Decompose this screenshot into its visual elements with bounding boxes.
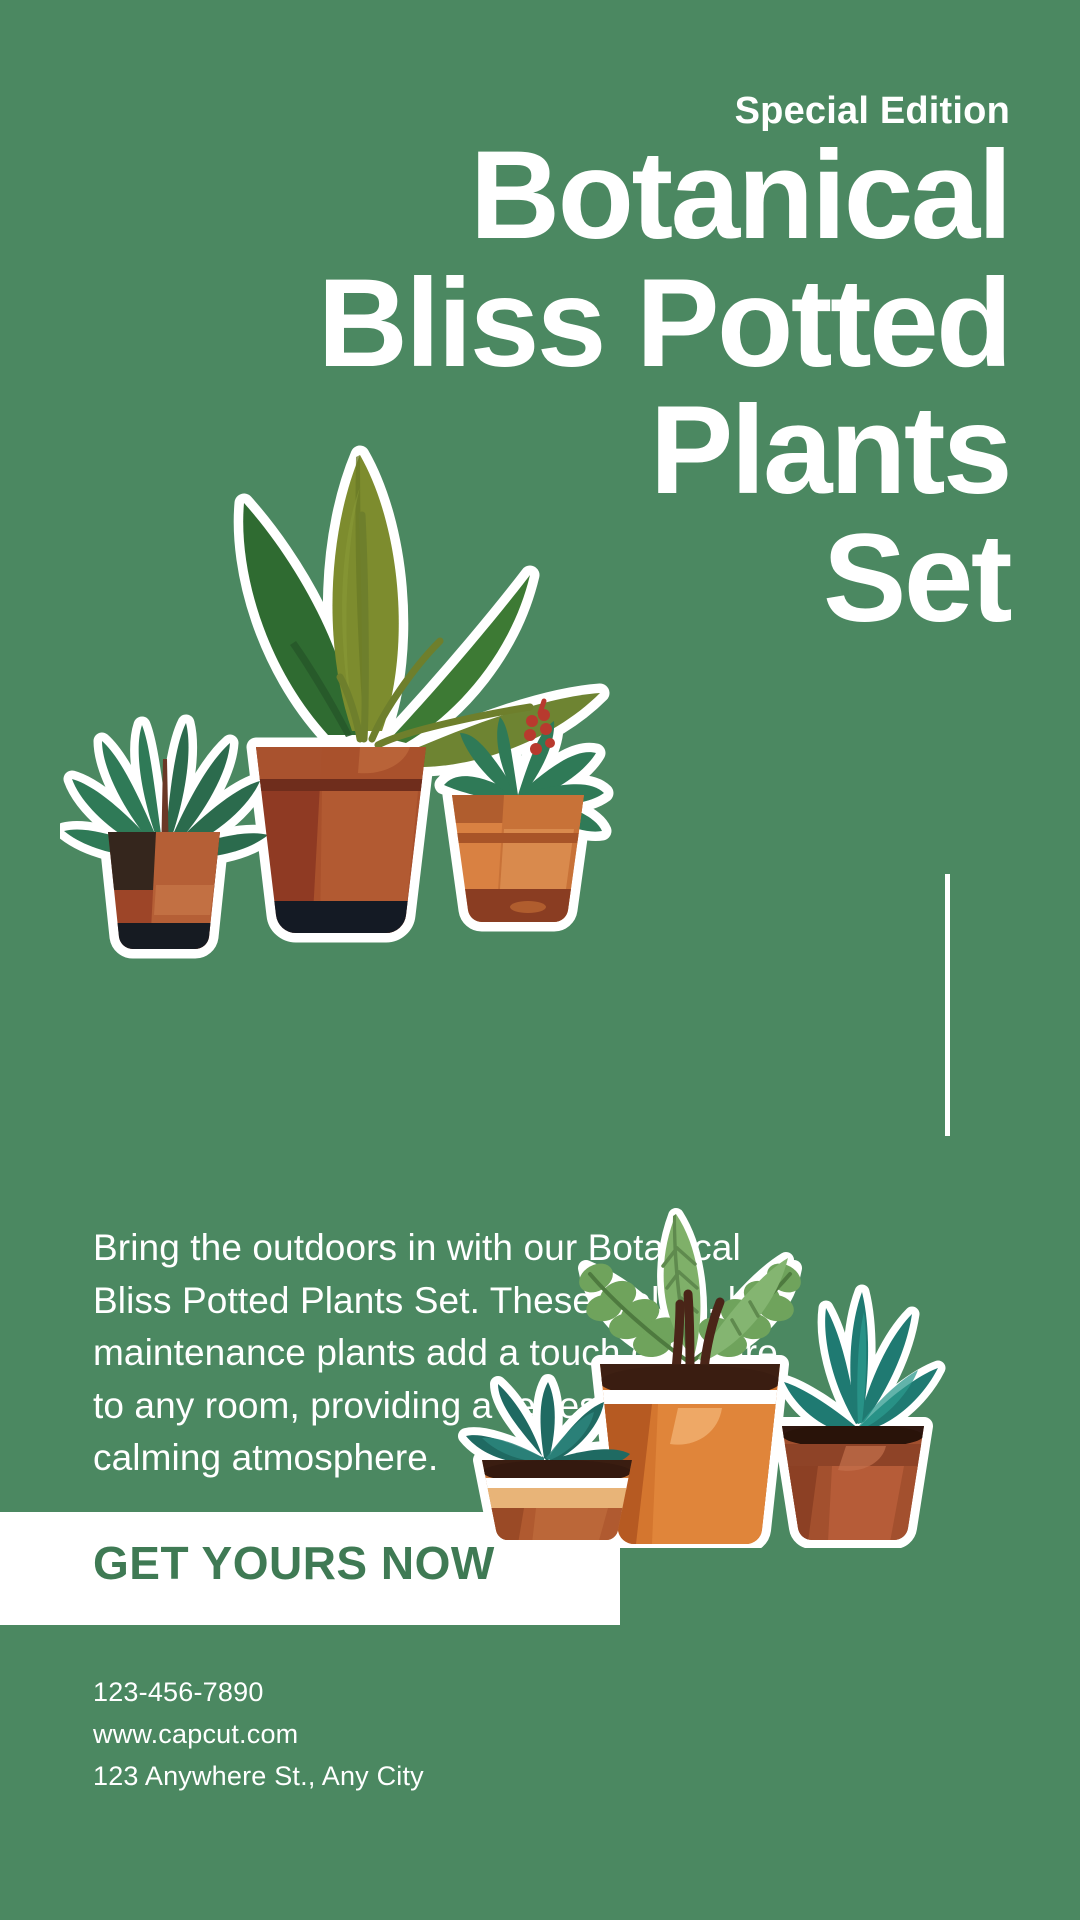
poster-canvas: Special Edition <box>0 0 1080 1920</box>
eyebrow-label: Special Edition <box>735 90 1010 133</box>
small-palm-plant <box>64 723 268 953</box>
get-yours-now-button[interactable]: GET YOURS NOW <box>93 1536 495 1590</box>
footer-phone[interactable]: 123-456-7890 <box>93 1672 424 1714</box>
headline-line-2: Bliss Potted <box>50 260 1010 388</box>
footer-address: 123 Anywhere St., Any City <box>93 1756 424 1798</box>
potted-plants-trio-illustration <box>60 395 660 965</box>
footer-website[interactable]: www.capcut.com <box>93 1714 424 1756</box>
headline-line-1: Botanical <box>50 132 1010 260</box>
vertical-divider <box>945 874 950 1136</box>
potted-plants-group-illustration <box>452 1168 1012 1548</box>
footer-contact-block: 123-456-7890 www.capcut.com 123 Anywhere… <box>93 1672 424 1798</box>
